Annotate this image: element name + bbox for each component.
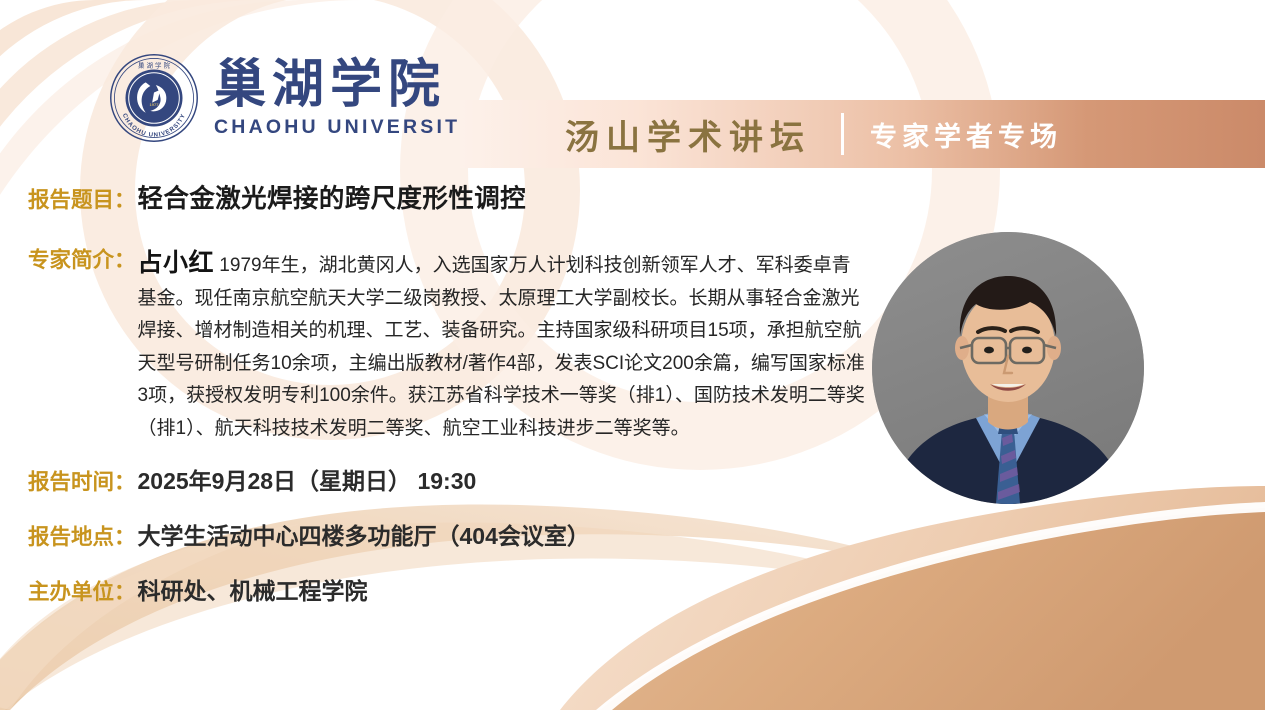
row-speaker-bio: 专家简介： 占小红 1979年生，湖北黄冈人，入选国家万人计划科技创新领军人才、… <box>28 243 873 445</box>
label-report-time: 报告时间： <box>28 465 136 496</box>
speaker-portrait-illustration <box>872 232 1144 504</box>
value-report-place: 大学生活动中心四楼多功能厅（404会议室） <box>138 517 590 551</box>
value-report-time: 2025年9月28日（星期日） 19:30 <box>138 462 477 496</box>
row-report-place: 报告地点： 大学生活动中心四楼多功能厅（404会议室） <box>28 517 590 551</box>
row-host-organization: 主办单位： 科研处、机械工程学院 <box>28 572 368 606</box>
speaker-bio-text: 1979年生，湖北黄冈人，入选国家万人计划科技创新领军人才、军科委卓青基金。现任… <box>138 255 865 439</box>
seminar-poster: 1977 巢 湖 学 院 CHAOHU UNIVERSITY 巢湖学院 CHAO… <box>0 0 1265 710</box>
speaker-portrait <box>872 232 1144 504</box>
label-host-organization: 主办单位： <box>28 575 136 606</box>
label-speaker-bio: 专家简介： <box>28 243 136 274</box>
label-report-place: 报告地点： <box>28 520 136 551</box>
value-host-organization: 科研处、机械工程学院 <box>138 572 368 606</box>
label-report-title: 报告题目： <box>28 183 136 214</box>
row-report-time: 报告时间： 2025年9月28日（星期日） 19:30 <box>28 462 476 496</box>
speaker-bio-body: 占小红 1979年生，湖北黄冈人，入选国家万人计划科技创新领军人才、军科委卓青基… <box>138 243 868 445</box>
row-report-title: 报告题目： 轻合金激光焊接的跨尺度形性调控 <box>28 178 526 215</box>
speaker-name: 占小红 <box>138 249 215 277</box>
value-report-title: 轻合金激光焊接的跨尺度形性调控 <box>138 178 527 215</box>
